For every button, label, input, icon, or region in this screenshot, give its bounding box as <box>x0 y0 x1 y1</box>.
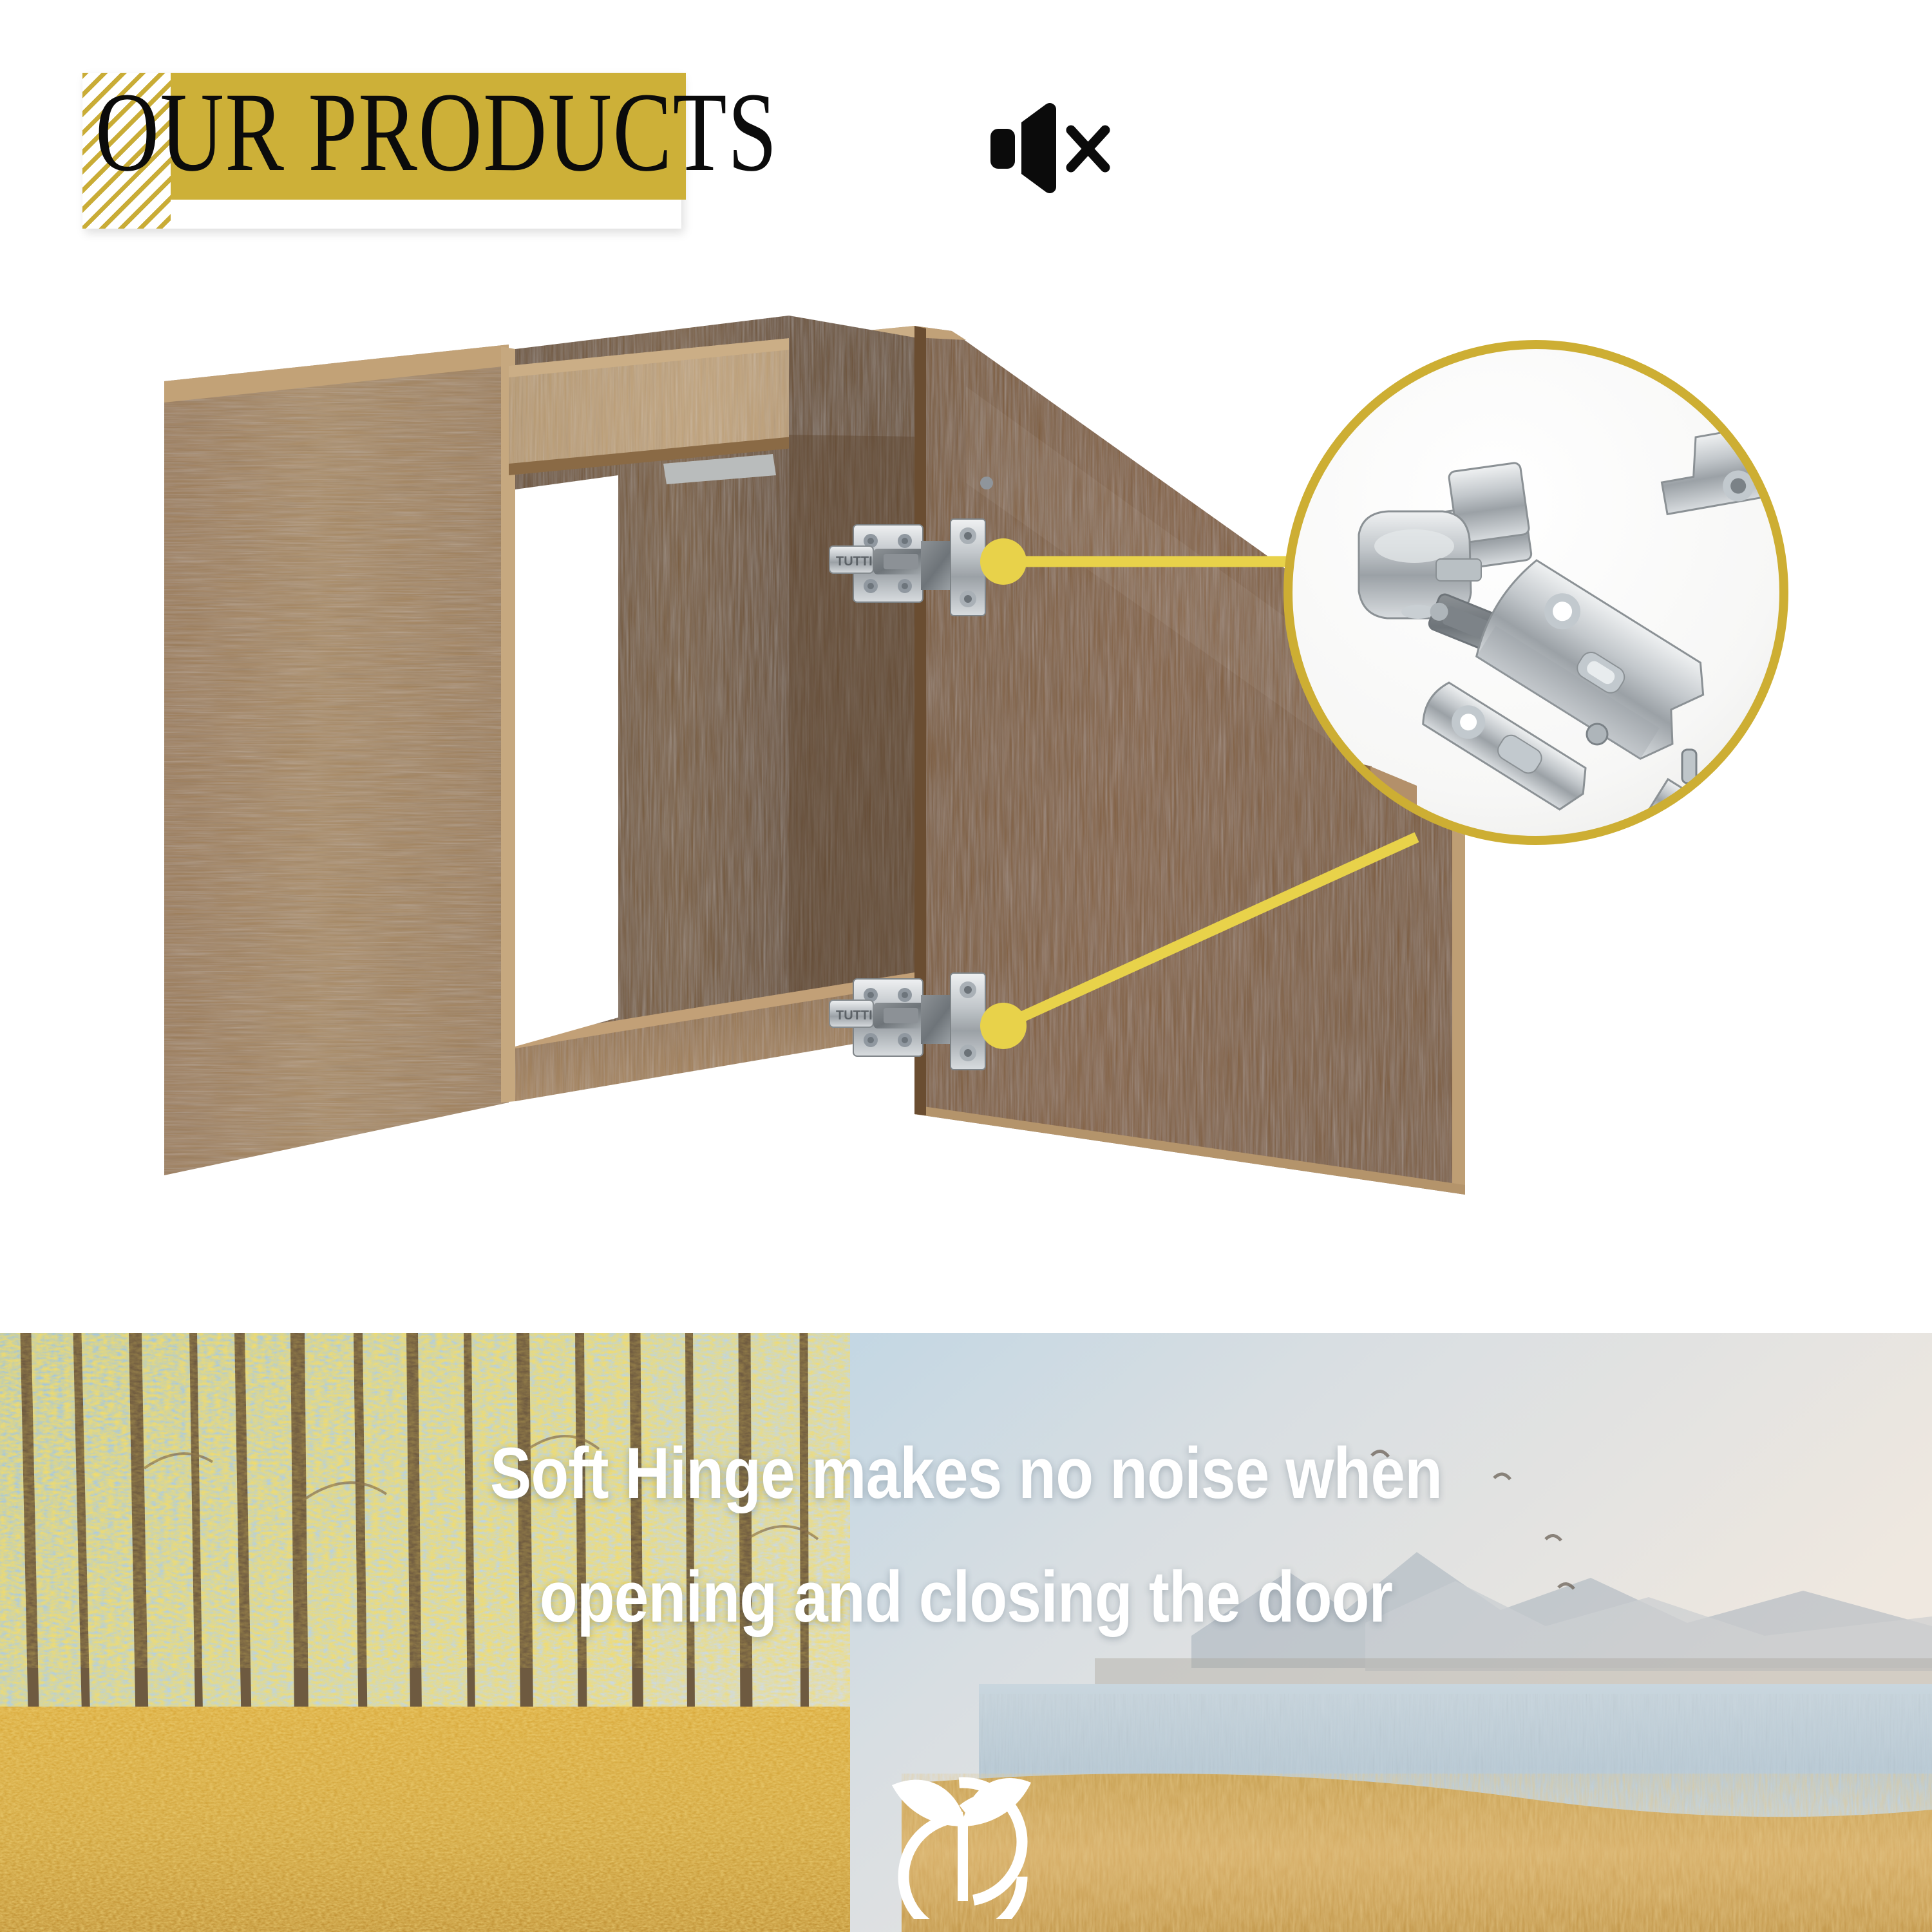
callout-dot-top <box>980 538 1027 585</box>
speaker-mute-icon <box>985 97 1114 200</box>
banner-headline: Soft Hinge makes no noise when opening a… <box>135 1412 1797 1659</box>
sprout-leaf-logo <box>866 1745 1059 1919</box>
product-photo-area: TUTTI TUTTI <box>0 270 1932 1333</box>
callout-dot-bottom <box>980 1003 1027 1049</box>
cabinet-left-side-panel <box>164 345 515 1175</box>
cabinet-illustration: TUTTI TUTTI <box>0 270 1932 1333</box>
far-shore <box>1095 1658 1932 1684</box>
header-section: OUR PRODUCTS <box>0 0 1932 270</box>
cabinet-inner-right-wall <box>789 316 914 1034</box>
hinge-brand-text: TUTTI <box>836 554 873 569</box>
page-title: OUR PRODUCTS <box>95 70 778 196</box>
svg-text:TUTTI: TUTTI <box>836 1009 873 1023</box>
product-infographic-page: OUR PRODUCTS <box>0 0 1932 1932</box>
cabinet-opening-void <box>515 475 618 1046</box>
hinge-bottom: TUTTI <box>829 973 985 1070</box>
banner-line-1: Soft Hinge makes no noise when <box>135 1412 1797 1535</box>
banner-line-2: opening and closing the door <box>135 1535 1797 1659</box>
